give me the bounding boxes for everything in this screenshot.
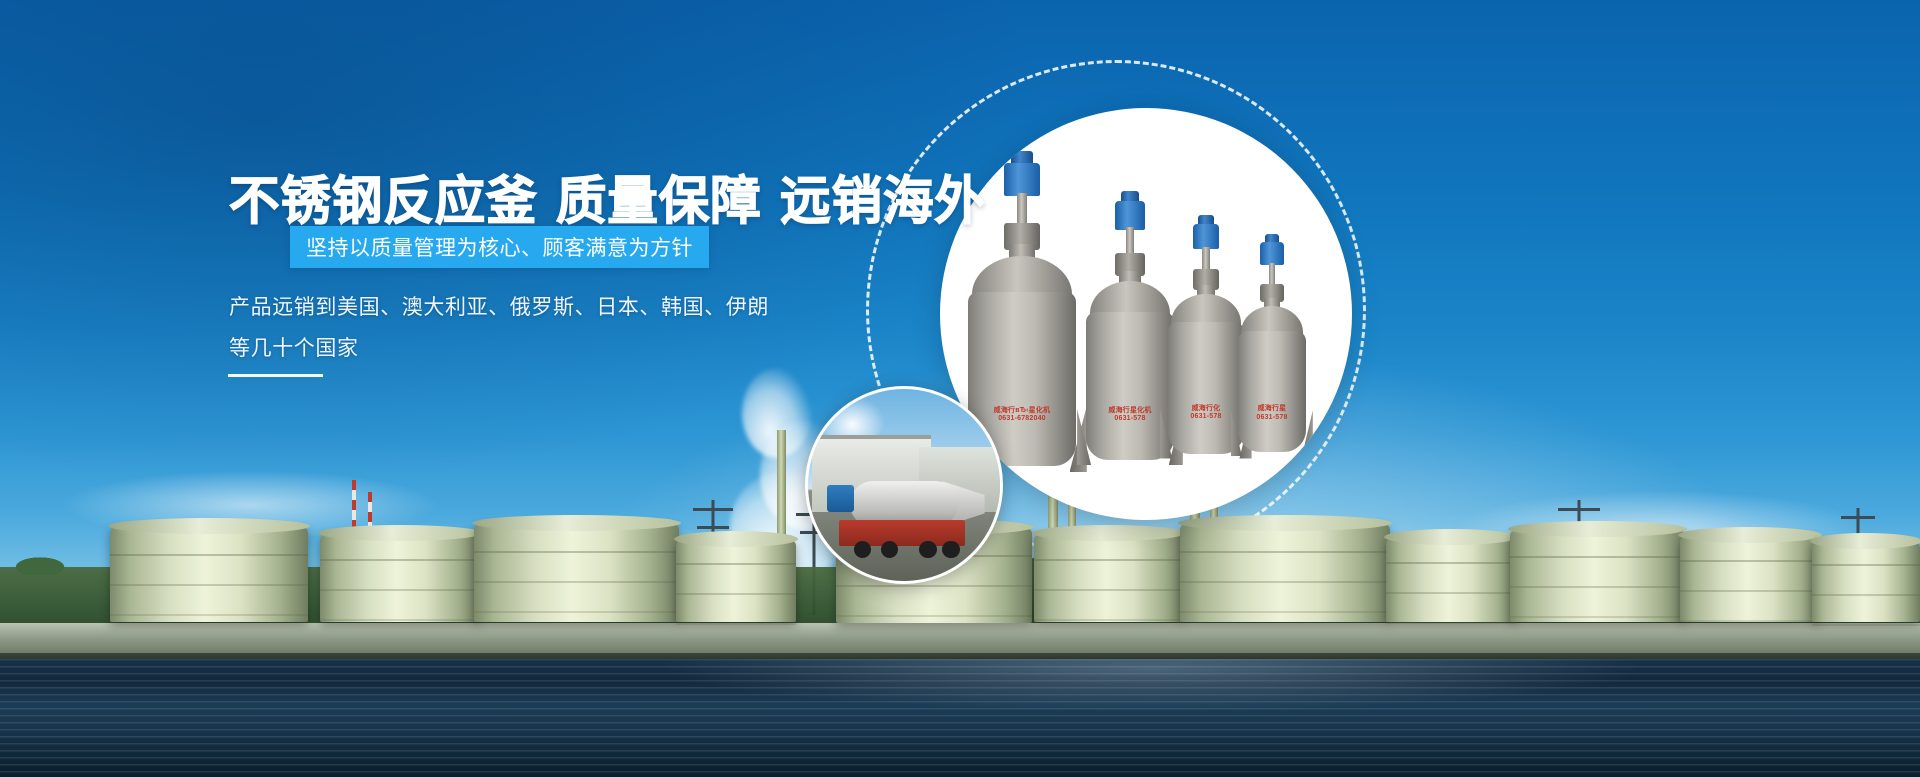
factory-scene [808, 389, 1000, 581]
storage-tank [676, 540, 796, 622]
quay-platform [0, 623, 1920, 657]
pylon-arm [1558, 508, 1600, 511]
storage-tank [474, 524, 679, 622]
truck-wheel [942, 541, 959, 558]
reactor-vessel: 威海行星 0631-578 [1238, 244, 1306, 452]
banner-body-line-2: 等几十个国家 [229, 328, 769, 369]
factory-photo-circle [805, 386, 1003, 584]
drive-shaft [1269, 263, 1276, 286]
storage-tank [1510, 530, 1685, 622]
storage-tank [110, 527, 308, 622]
storage-tank [1034, 534, 1184, 622]
truck-wheel [854, 541, 871, 558]
vessel-motor [827, 485, 854, 512]
vessel-body [1238, 331, 1306, 452]
drive-motor [1193, 224, 1219, 249]
product-photo-circle: 威海行вЂ‹星化机 0631-6782040 威海行星化机 0631-578 威 [940, 108, 1352, 520]
pylon-arm [697, 526, 729, 529]
storage-tank [1180, 524, 1390, 622]
drive-shaft [1017, 193, 1028, 226]
decorative-rule [228, 374, 323, 377]
banner-headline: 不锈钢反应釜 质量保障 远销海外 [229, 159, 986, 234]
banner-subtitle-bar: 坚持以质量管理为核心、顾客满意为方针 [290, 226, 709, 268]
vessel-label: 威海行星化机 0631-578 [1093, 407, 1167, 425]
banner-body-text: 产品远销到美国、澳大利亚、俄罗斯、日本、韩国、伊朗 等几十个国家 [229, 287, 769, 369]
drive-motor [1260, 242, 1283, 265]
banner-body-line-1: 产品远销到美国、澳大利亚、俄罗斯、日本、韩国、伊朗 [229, 287, 769, 328]
pylon-arm [693, 508, 733, 511]
drive-shaft [1202, 247, 1210, 272]
drive-shaft [1126, 227, 1135, 255]
pylon-arm [1841, 516, 1875, 519]
storage-tank [320, 534, 480, 622]
drive-motor [1115, 201, 1145, 229]
storage-tank [1812, 542, 1920, 622]
drive-motor [1004, 163, 1041, 196]
banner-subtitle-text: 坚持以质量管理为核心、顾客满意为方针 [306, 232, 693, 262]
truck-wheel [881, 541, 898, 558]
vessel-label: 威海行星 0631-578 [1243, 405, 1300, 423]
storage-tank [1386, 538, 1516, 622]
truck-wheel [919, 541, 936, 558]
water-shimmer [0, 659, 1920, 777]
hero-banner: 威海行вЂ‹星化机 0631-6782040 威海行星化机 0631-578 威 [0, 0, 1920, 777]
vessel-label: 威海行化 0631-578 [1174, 405, 1238, 423]
storage-tank [1680, 536, 1820, 622]
